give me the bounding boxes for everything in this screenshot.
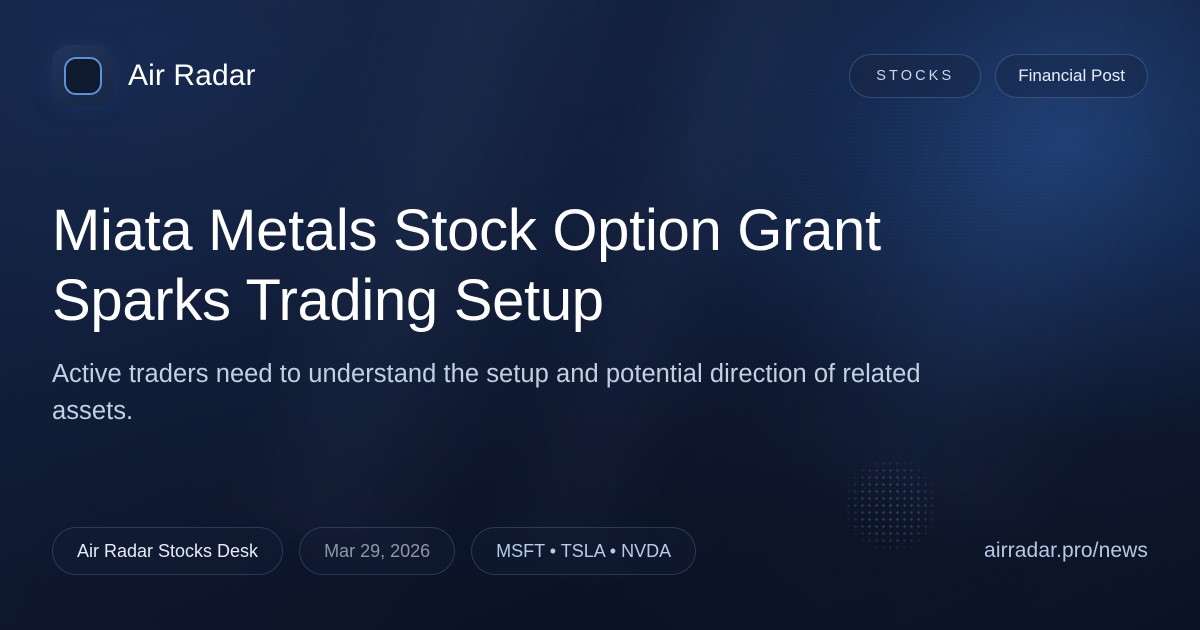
brand-name: Air Radar [128,59,256,93]
page-subtitle: Active traders need to understand the se… [52,356,992,430]
site-url[interactable]: airradar.pro/news [984,539,1148,563]
tickers-pill[interactable]: MSFT • TSLA • NVDA [471,527,696,575]
header-badges: STOCKS Financial Post [849,54,1148,98]
main-content: Miata Metals Stock Option Grant Sparks T… [52,196,1032,430]
author-pill[interactable]: Air Radar Stocks Desk [52,527,283,575]
category-badge[interactable]: STOCKS [849,54,981,98]
logo-inner-square-icon [64,57,102,95]
date-pill[interactable]: Mar 29, 2026 [299,527,455,575]
brand-lockup[interactable]: Air Radar [52,45,256,107]
rounded-square-logo-icon [52,45,114,107]
source-badge[interactable]: Financial Post [995,54,1148,98]
og-card-canvas: Air Radar STOCKS Financial Post Miata Me… [0,0,1200,630]
meta-pill-group: Air Radar Stocks Desk Mar 29, 2026 MSFT … [52,527,696,575]
footer: Air Radar Stocks Desk Mar 29, 2026 MSFT … [52,527,1148,575]
page-title: Miata Metals Stock Option Grant Sparks T… [52,196,1012,336]
header: Air Radar STOCKS Financial Post [52,44,1148,108]
